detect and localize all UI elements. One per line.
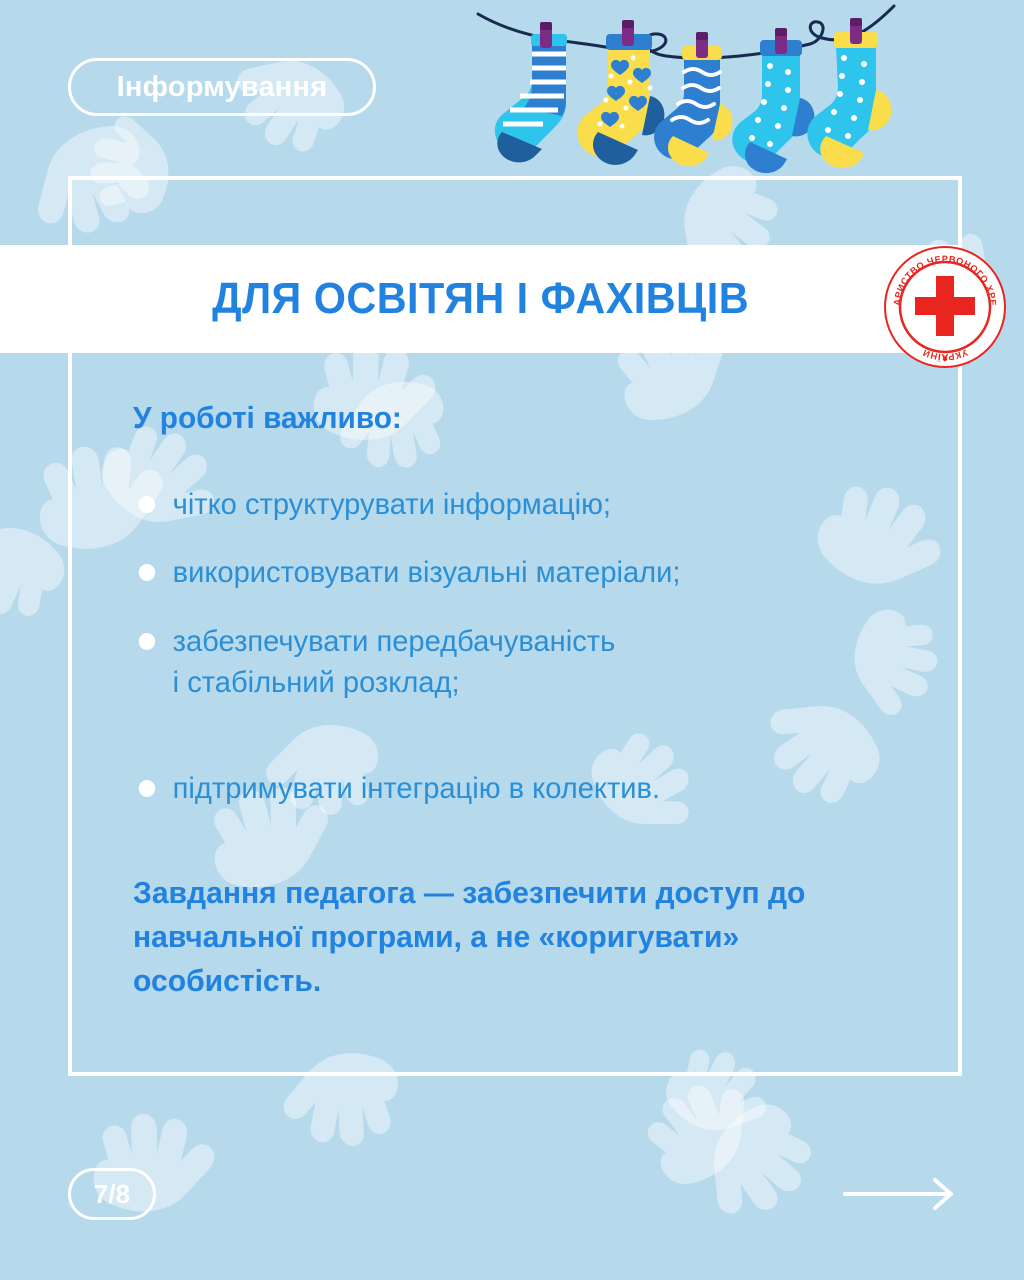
page-indicator-label: 7/8 bbox=[94, 1179, 130, 1210]
page-indicator: 7/8 bbox=[68, 1168, 156, 1220]
sock-1 bbox=[495, 22, 567, 162]
title-banner: ДЛЯ ОСВІТЯН І ФАХІВЦІВ bbox=[0, 245, 962, 353]
logo-ring-dot bbox=[943, 357, 947, 361]
clothespin-2 bbox=[622, 20, 634, 46]
page-title: ДЛЯ ОСВІТЯН І ФАХІВЦІВ bbox=[213, 274, 750, 324]
sock-4 bbox=[732, 28, 814, 173]
list-item: використовувати візуальні матеріали; bbox=[0, 552, 993, 593]
bullet-list: чітко структурувати інформацію; використ… bbox=[0, 484, 1024, 809]
bullet-dot-icon bbox=[139, 496, 155, 513]
list-item: підтримувати інтеграцію в колектив. bbox=[0, 768, 993, 809]
list-item-line1: забезпечувати передбачуваність bbox=[173, 625, 616, 658]
clothespin-5 bbox=[850, 18, 862, 44]
list-item-line2: і стабільний розклад; bbox=[173, 662, 994, 703]
red-cross-icon: ТОВАРИСТВО ЧЕРВОНОГО ХРЕСТА УКРАЇНИ bbox=[884, 246, 1006, 368]
next-slide-button[interactable] bbox=[843, 1172, 958, 1216]
clothespin-4 bbox=[775, 28, 787, 54]
list-item: чітко структурувати інформацію; bbox=[0, 484, 993, 525]
bullet-dot-icon bbox=[139, 564, 155, 581]
bullet-dot-icon bbox=[139, 633, 155, 650]
intro-heading: У роботі важливо: bbox=[133, 400, 988, 436]
red-cross-logo: ТОВАРИСТВО ЧЕРВОНОГО ХРЕСТА УКРАЇНИ bbox=[884, 246, 1006, 368]
topic-badge-label: Інформування bbox=[117, 71, 328, 104]
bullet-dot-icon bbox=[139, 780, 155, 797]
clothespin-1 bbox=[540, 22, 552, 48]
topic-badge: Інформування bbox=[68, 58, 376, 116]
clothespin-3 bbox=[696, 32, 708, 58]
sock-3 bbox=[654, 32, 732, 166]
arrow-right-icon bbox=[843, 1172, 958, 1216]
list-item: забезпечувати передбачуваність і стабіль… bbox=[0, 621, 993, 704]
body-content: У роботі важливо: чітко структурувати ін… bbox=[0, 400, 1024, 1003]
list-item-line1: чітко структурувати інформацію; bbox=[173, 488, 611, 521]
sock-5 bbox=[807, 18, 891, 168]
socks-clothesline-decoration bbox=[470, 0, 900, 176]
closing-statement: Завдання педагога — забезпечити доступ д… bbox=[133, 871, 880, 1003]
list-item-line1: підтримувати інтеграцію в колектив. bbox=[173, 772, 660, 805]
list-item-line1: використовувати візуальні матеріали; bbox=[173, 556, 681, 589]
sock-2 bbox=[577, 20, 664, 165]
socks-illustration bbox=[470, 0, 900, 176]
